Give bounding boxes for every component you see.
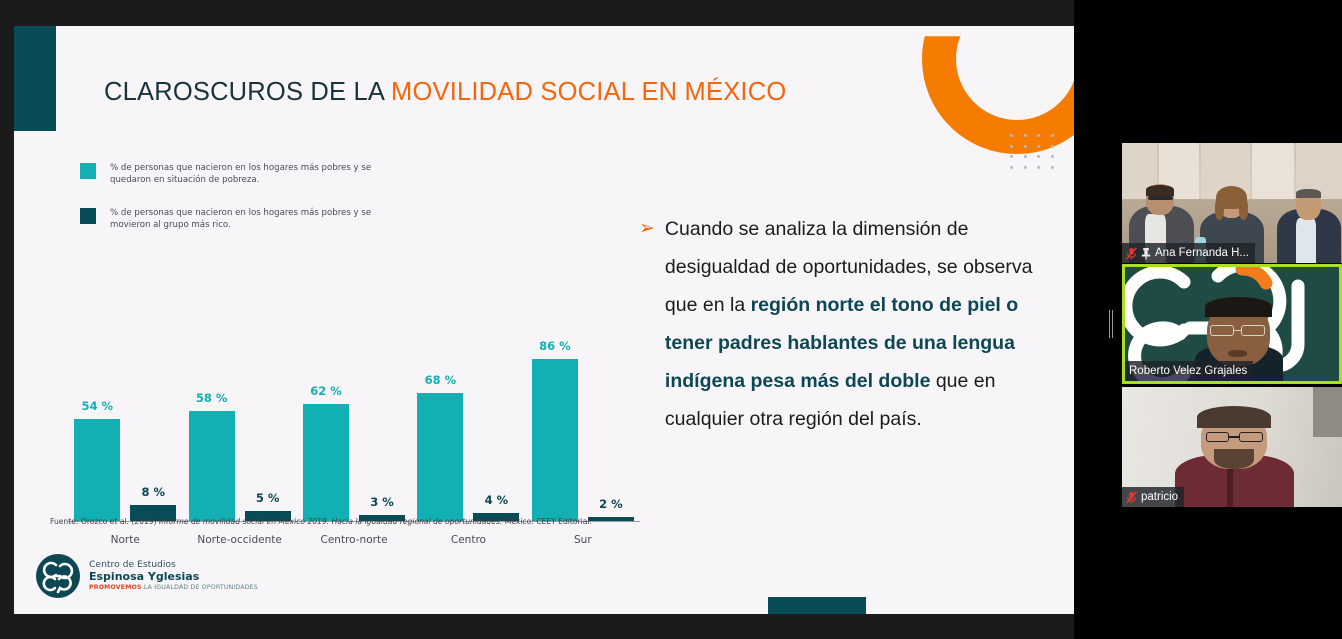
pin-icon <box>1141 247 1151 260</box>
decorative-teal-bar <box>14 26 56 131</box>
participant-name: Ana Fernanda H... <box>1155 247 1249 259</box>
bar-norte-occidente-series-1: 58 % <box>189 411 235 520</box>
screen-share-region[interactable]: CLAROSCUROS DE LA MOVILIDAD SOCIAL EN MÉ… <box>0 0 1074 639</box>
video-tile-participant-1[interactable]: Ana Fernanda H... <box>1122 143 1342 263</box>
ceey-line-1: Centro de Estudios <box>89 560 258 570</box>
bar-value-label: 54 % <box>81 399 113 413</box>
chart-category-labels: NorteNorte-occidenteCentro-norteCentroSu… <box>68 534 640 546</box>
category-label-centro: Centro <box>411 534 525 546</box>
source-prefix: Fuente: Orozco et al. (2019) <box>50 517 159 526</box>
ceey-logo: Centro de Estudios Espinosa Yglesias PRO… <box>36 554 258 598</box>
slide-title: CLAROSCUROS DE LA MOVILIDAD SOCIAL EN MÉ… <box>104 78 786 107</box>
bar-value-label: 2 % <box>599 497 623 511</box>
category-label-norte: Norte <box>68 534 182 546</box>
category-label-sur: Sur <box>526 534 640 546</box>
bar-value-label: 4 % <box>485 493 509 507</box>
bar-group: 54 %8 % <box>68 333 182 521</box>
bar-centro-series-1: 68 % <box>417 393 463 521</box>
bar-norte-series-1: 54 % <box>74 419 120 521</box>
ceey-wordmark: Centro de Estudios Espinosa Yglesias PRO… <box>89 560 258 592</box>
chart-source-note: Fuente: Orozco et al. (2019) Informe de … <box>50 516 610 528</box>
ceey-tagline-rest: LA IGUALDAD DE OPORTUNIDADES <box>142 584 258 591</box>
ceey-line-2: Espinosa Yglesias <box>89 571 258 583</box>
decorative-dot-grid <box>1010 134 1064 176</box>
legend-swatch-series-2 <box>80 208 96 224</box>
participant-name: Roberto Velez Grajales <box>1129 365 1247 377</box>
source-title: Informe de movilidad social en México 20… <box>159 517 502 526</box>
legend-item: % de personas que nacieron en los hogare… <box>80 207 400 232</box>
bar-value-label: 68 % <box>425 373 457 387</box>
bullet-paragraph: Cuando se analiza la dimensión de desigu… <box>665 210 1039 438</box>
ceey-monogram-icon <box>36 554 80 598</box>
meeting-window: CLAROSCUROS DE LA MOVILIDAD SOCIAL EN MÉ… <box>0 0 1342 639</box>
slide-title-part2: MOVILIDAD SOCIAL EN MÉXICO <box>391 78 786 106</box>
participant-nametag: Roberto Velez Grajales <box>1125 361 1253 381</box>
bullet-arrow-icon: ➢ <box>639 210 655 438</box>
participant-name: patricio <box>1141 491 1178 503</box>
slide-body-text: ➢ Cuando se analiza la dimensión de desi… <box>639 210 1039 438</box>
legend-item: % de personas que nacieron en los hogare… <box>80 162 400 187</box>
bar-value-label: 3 % <box>370 495 394 509</box>
presentation-slide[interactable]: CLAROSCUROS DE LA MOVILIDAD SOCIAL EN MÉ… <box>14 26 1074 614</box>
panel-splitter-handle[interactable] <box>1108 310 1114 338</box>
bar-centro-norte-series-1: 62 % <box>303 404 349 521</box>
bar-chart: % de personas que nacieron en los hogare… <box>40 162 640 552</box>
bar-group: 58 %5 % <box>182 333 296 521</box>
chart-bar-groups: 54 %8 %58 %5 %62 %3 %68 %4 %86 %2 % <box>68 333 640 521</box>
bar-group: 86 %2 % <box>526 333 640 521</box>
bar-sur-series-1: 86 % <box>532 359 578 521</box>
bar-value-label: 8 % <box>141 485 165 499</box>
bar-value-label: 62 % <box>310 384 342 398</box>
source-suffix: México: CEEY Editorial. <box>502 517 592 526</box>
chart-legend: % de personas que nacieron en los hogare… <box>80 162 400 252</box>
ceey-tagline-bold: PROMOVEMOS <box>89 584 142 591</box>
bar-value-label: 86 % <box>539 339 571 353</box>
decorative-bottom-rect <box>768 597 866 614</box>
video-tile-participant-3[interactable]: patricio <box>1122 387 1342 507</box>
legend-label-series-2: % de personas que nacieron en los hogare… <box>110 207 400 232</box>
bar-value-label: 58 % <box>196 391 228 405</box>
bar-value-label: 5 % <box>256 491 280 505</box>
video-filmstrip: Ana Fernanda H... <box>1122 0 1342 639</box>
bar-group: 62 %3 % <box>297 333 411 521</box>
participant-nametag: Ana Fernanda H... <box>1122 243 1255 263</box>
mic-muted-icon <box>1126 491 1137 504</box>
video-tile-participant-2[interactable]: Roberto Velez Grajales <box>1122 264 1342 384</box>
chart-plot-area: 54 %8 %58 %5 %62 %3 %68 %4 %86 %2 % Nort… <box>50 332 640 522</box>
ceey-tagline: PROMOVEMOS LA IGUALDAD DE OPORTUNIDADES <box>89 585 258 592</box>
legend-label-series-1: % de personas que nacieron en los hogare… <box>110 162 400 187</box>
participant-nametag: patricio <box>1122 487 1184 507</box>
slide-title-part1: CLAROSCUROS DE LA <box>104 78 391 106</box>
bar-group: 68 %4 % <box>411 333 525 521</box>
legend-swatch-series-1 <box>80 163 96 179</box>
category-label-norte-occidente: Norte-occidente <box>182 534 296 546</box>
mic-muted-icon <box>1126 247 1137 260</box>
category-label-centro-norte: Centro-norte <box>297 534 411 546</box>
